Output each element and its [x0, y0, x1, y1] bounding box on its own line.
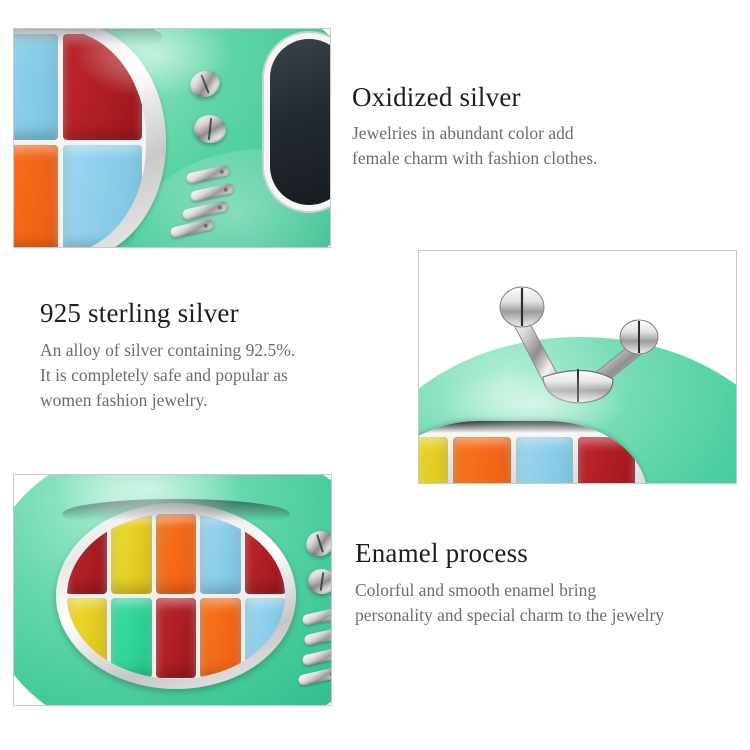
enamel-stripe: [453, 437, 510, 483]
enamel-stripe: [111, 598, 152, 678]
screen-bezel: [14, 29, 166, 247]
enamel-stripe: [245, 514, 285, 594]
screen-bezel: [419, 421, 647, 483]
dark-side-panel: [270, 39, 330, 205]
enamel-stripe: [156, 598, 197, 678]
enamel-stripe: [516, 437, 573, 483]
screen-well: [14, 30, 146, 247]
enamel-stripe: [578, 437, 635, 483]
product-feature-page: Oxidized silver Jewelries in abundant co…: [0, 0, 750, 750]
screen-well: [67, 513, 285, 679]
photo-content-antenna: [419, 251, 736, 483]
product-photo-oxidized-silver[interactable]: [13, 28, 331, 248]
feature-body-oxidized-silver: Jewelries in abundant color add female c…: [352, 121, 712, 171]
photo-content-closeup-stripes: [14, 29, 330, 247]
feature-title-enamel-process: Enamel process: [355, 538, 528, 569]
feature-body-sterling-silver: An alloy of silver containing 92.5%. It …: [40, 338, 390, 413]
feature-body-enamel-process: Colorful and smooth enamel bring persona…: [355, 578, 750, 628]
antenna-icon: [493, 281, 673, 406]
feature-title-sterling-silver: 925 sterling silver: [40, 298, 239, 329]
photo-content-rainbow-screen: [14, 475, 331, 705]
enamel-stripe: [67, 598, 107, 678]
enamel-stripe: [200, 598, 241, 678]
enamel-stripe: [67, 514, 107, 594]
enamel-stripe: [419, 437, 448, 483]
enamel-stripe: [14, 145, 58, 248]
enamel-stripe-grid: [67, 513, 285, 679]
enamel-stripe: [63, 145, 142, 248]
product-photo-enamel-process[interactable]: [13, 474, 332, 706]
feature-title-oxidized-silver: Oxidized silver: [352, 82, 521, 113]
enamel-stripe: [245, 598, 285, 678]
screen-top-rim: [62, 499, 290, 529]
product-photo-sterling-silver[interactable]: [418, 250, 737, 484]
enamel-stripe-grid: [14, 30, 146, 247]
screen-top-rim: [419, 421, 647, 433]
screen-bezel: [56, 503, 296, 689]
enamel-stripe-grid: [419, 437, 635, 483]
